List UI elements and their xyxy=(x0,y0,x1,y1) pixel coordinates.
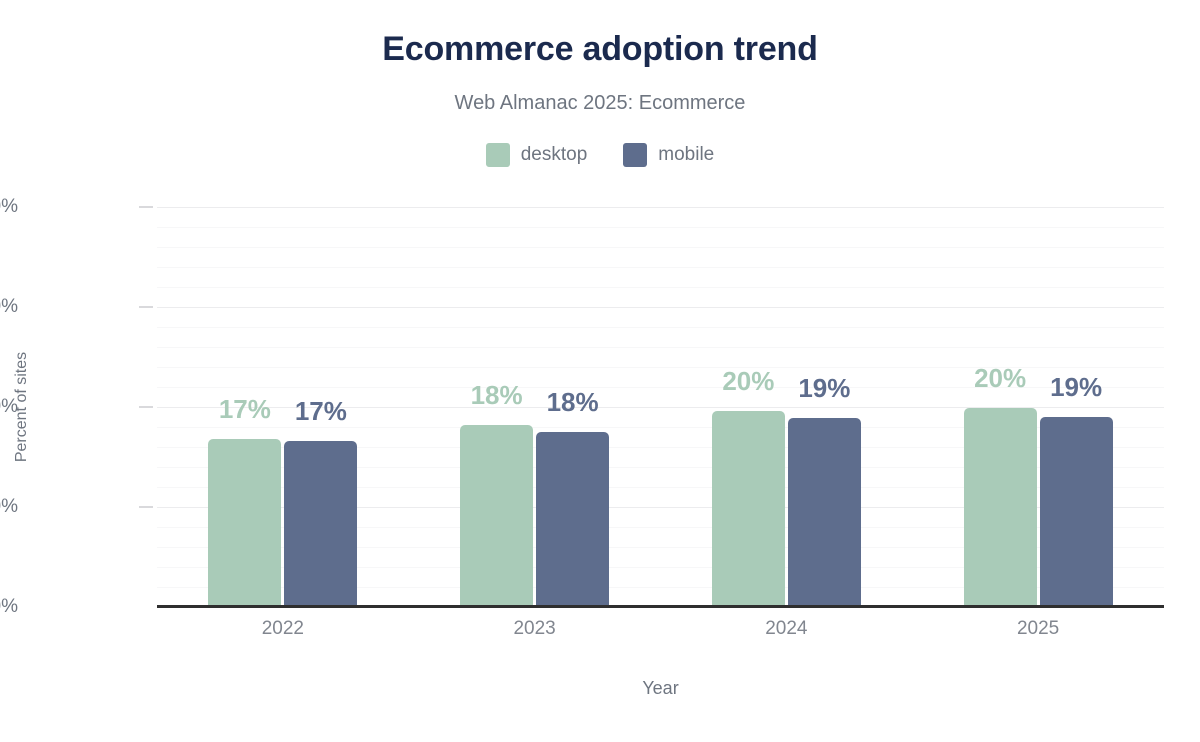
chart-subtitle: Web Almanac 2025: Ecommerce xyxy=(0,92,1200,115)
y-axis-tick-label: 0% xyxy=(0,596,18,618)
y-axis-tick-label: 20% xyxy=(0,396,18,418)
legend-label-mobile: mobile xyxy=(658,144,714,166)
y-axis-tick-mark xyxy=(139,406,153,408)
bar-mobile-2023[interactable] xyxy=(536,432,609,607)
y-axis-tick-label: 10% xyxy=(0,496,18,518)
bar-mobile-2022[interactable] xyxy=(284,441,357,607)
x-axis-tick-label: 2025 xyxy=(938,618,1138,640)
bar-desktop-2024[interactable] xyxy=(712,411,785,607)
y-axis-tick-mark xyxy=(139,306,153,308)
bar-group-bars: 20%19% xyxy=(661,207,913,607)
chart-legend: desktop mobile xyxy=(0,143,1200,167)
bar-column-mobile: 18% xyxy=(536,207,609,607)
bar-value-label: 19% xyxy=(769,373,879,404)
y-axis-tick-mark xyxy=(139,506,153,508)
bar-desktop-2022[interactable] xyxy=(208,439,281,607)
legend-swatch-desktop xyxy=(486,143,510,167)
y-axis-tick-mark xyxy=(139,206,153,208)
ecommerce-adoption-chart: Ecommerce adoption trend Web Almanac 202… xyxy=(0,0,1200,742)
bar-value-label: 19% xyxy=(1021,372,1131,403)
legend-item-desktop[interactable]: desktop xyxy=(486,143,588,167)
bar-column-mobile: 19% xyxy=(788,207,861,607)
bar-group-bars: 20%19% xyxy=(912,207,1164,607)
x-axis-title: Year xyxy=(157,678,1164,699)
chart-title: Ecommerce adoption trend xyxy=(0,30,1200,69)
bar-desktop-2025[interactable] xyxy=(964,408,1037,607)
bar-column-desktop: 20% xyxy=(964,207,1037,607)
bar-mobile-2024[interactable] xyxy=(788,418,861,607)
bar-column-desktop: 20% xyxy=(712,207,785,607)
bar-group: 20%19% xyxy=(912,207,1164,607)
bar-group-bars: 18%18% xyxy=(409,207,661,607)
bar-value-label: 18% xyxy=(518,387,628,418)
bar-group: 18%18% xyxy=(409,207,661,607)
bar-column-mobile: 17% xyxy=(284,207,357,607)
bar-mobile-2025[interactable] xyxy=(1040,417,1113,607)
legend-item-mobile[interactable]: mobile xyxy=(623,143,714,167)
bar-column-mobile: 19% xyxy=(1040,207,1113,607)
x-axis-tick-label: 2024 xyxy=(686,618,886,640)
bar-group: 17%17% xyxy=(157,207,409,607)
x-axis-tick-label: 2022 xyxy=(183,618,383,640)
bar-group: 20%19% xyxy=(661,207,913,607)
bar-desktop-2023[interactable] xyxy=(460,425,533,607)
x-axis-baseline xyxy=(157,605,1164,608)
y-axis-tick-label: 40% xyxy=(0,196,18,218)
x-axis-tick-label: 2023 xyxy=(435,618,635,640)
bar-value-label: 17% xyxy=(266,396,376,427)
plot-area: 17%17%18%18%20%19%20%19% xyxy=(157,207,1164,607)
legend-swatch-mobile xyxy=(623,143,647,167)
legend-label-desktop: desktop xyxy=(521,144,588,166)
bar-group-bars: 17%17% xyxy=(157,207,409,607)
y-axis-tick-label: 30% xyxy=(0,296,18,318)
